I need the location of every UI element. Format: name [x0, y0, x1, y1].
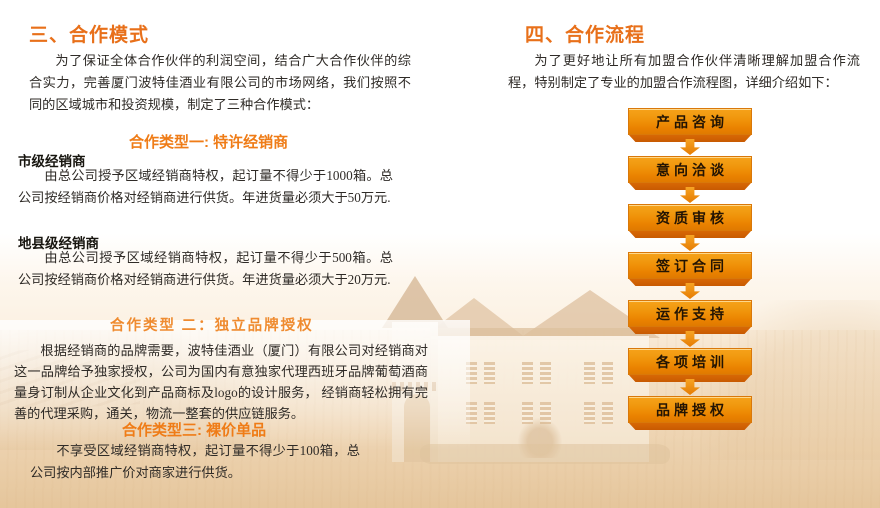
page-title-cooperation-process: 四、合作流程 — [525, 20, 645, 47]
flow-arrow-down-icon — [628, 234, 752, 252]
flow-step-sign-contract[interactable]: 签订合同 — [628, 252, 752, 282]
flow-step-label: 品牌授权 — [628, 396, 752, 423]
flow-step-label: 资质审核 — [628, 204, 752, 231]
flow-step-brand-authorization[interactable]: 品牌授权 — [628, 396, 752, 426]
flow-step-label: 意向洽谈 — [628, 156, 752, 183]
flow-arrow-down-icon — [628, 378, 752, 396]
flow-step-intent-negotiation[interactable]: 意向洽谈 — [628, 156, 752, 186]
flow-step-training[interactable]: 各项培训 — [628, 348, 752, 378]
flow-step-label: 运作支持 — [628, 300, 752, 327]
cooperation-flow-chart: 产品咨询 意向洽谈 资质审核 签订合同 运作支持 各项培训 — [628, 108, 752, 426]
flow-arrow-down-icon — [628, 186, 752, 204]
left-intro-paragraph: 为了保证全体合作伙伴的利润空间，结合广大合作伙伴的综合实力，完善厦门波特佳酒业有… — [29, 50, 411, 116]
tier-city-level-text: 由总公司授予区域经销商特权，起订量不得少于1000箱。总公司按经销商价格对经销商… — [18, 165, 393, 209]
flow-step-product-consultation[interactable]: 产品咨询 — [628, 108, 752, 138]
cooperation-type-two-heading: 合作类型 二：独立品牌授权 — [110, 314, 314, 335]
cooperation-type-two-text: 根据经销商的品牌需要，波特佳酒业（厦门）有限公司对经销商对这一品牌给予独家授权，… — [14, 340, 428, 424]
cooperation-type-three-text: 不享受区域经销商特权，起订量不得少于100箱，总公司按内部推广价对商家进行供货。 — [30, 440, 360, 484]
flow-step-label: 产品咨询 — [628, 108, 752, 135]
cooperation-type-one-heading: 合作类型一: 特许经销商 — [129, 131, 288, 152]
cooperation-type-three-heading: 合作类型三: 裸价单品 — [122, 419, 266, 440]
flow-step-operation-support[interactable]: 运作支持 — [628, 300, 752, 330]
flow-arrow-down-icon — [628, 138, 752, 156]
flow-arrow-down-icon — [628, 282, 752, 300]
flow-arrow-down-icon — [628, 330, 752, 348]
flow-box-base — [628, 422, 752, 430]
tier-county-level-text: 由总公司授予区域经销商特权，起订量不得少于500箱。总公司按经销商价格对经销商进… — [18, 247, 393, 291]
flow-step-qualification-review[interactable]: 资质审核 — [628, 204, 752, 234]
page-title-cooperation-modes: 三、合作模式 — [29, 20, 149, 47]
flow-step-label: 签订合同 — [628, 252, 752, 279]
right-intro-paragraph: 为了更好地让所有加盟合作伙伴清晰理解加盟合作流程，特别制定了专业的加盟合作流程图… — [508, 50, 860, 94]
flow-step-label: 各项培训 — [628, 348, 752, 375]
page-root: 三、合作模式 为了保证全体合作伙伴的利润空间，结合广大合作伙伴的综合实力，完善厦… — [0, 0, 880, 508]
